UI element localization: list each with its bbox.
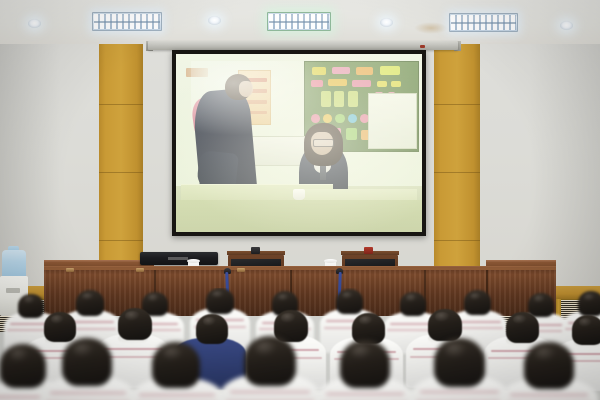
student-head — [524, 342, 574, 389]
student-head — [206, 288, 234, 314]
student-head — [244, 336, 296, 386]
student-head — [464, 290, 491, 315]
downlight-icon-1 — [28, 19, 41, 28]
student-head — [434, 338, 485, 387]
water-dispenser-bottle — [2, 250, 26, 278]
lecture-hall-photo — [0, 0, 600, 400]
podium-knob-3 — [237, 268, 245, 272]
student-head — [62, 338, 112, 386]
podium-knob-1 — [66, 268, 74, 272]
roller-screen-housing — [148, 41, 458, 50]
student-head — [428, 309, 462, 341]
shirt-piping — [326, 393, 404, 395]
student-head — [118, 308, 152, 340]
eyeglasses-icon — [313, 139, 335, 146]
student-head — [76, 290, 104, 316]
ceiling-stain — [414, 22, 448, 34]
projected-desk-cup — [293, 189, 305, 200]
student-head — [506, 312, 539, 343]
projected-seated-student-tie — [320, 164, 326, 180]
shirt-piping — [230, 391, 310, 393]
shirt-piping — [420, 391, 499, 393]
student-head — [18, 294, 44, 318]
projection-screen-surface — [176, 54, 422, 232]
student-head — [0, 344, 46, 388]
podium-knob-2 — [136, 268, 144, 272]
shirt-piping — [103, 348, 162, 350]
name-plate-left — [251, 247, 260, 254]
projected-desk-front — [176, 200, 422, 232]
student-head — [400, 292, 426, 316]
shirt-piping — [139, 394, 214, 396]
projected-white-cabinet — [368, 93, 417, 148]
audience-area — [0, 288, 600, 400]
downlight-icon-3 — [380, 18, 393, 27]
screen-indicator-icon — [420, 45, 425, 48]
student-head — [528, 293, 554, 317]
tan-column-left — [99, 44, 143, 296]
student-head — [340, 340, 390, 388]
fluorescent-panel-light-left — [92, 12, 162, 31]
fluorescent-panel-light-right — [449, 13, 518, 32]
student-head — [152, 342, 200, 388]
shirt-piping — [50, 392, 127, 394]
projected-wall-lettering — [186, 68, 208, 77]
student-head — [578, 291, 600, 316]
student-head — [336, 289, 363, 314]
downlight-icon-2 — [208, 16, 221, 25]
projected-standing-student-face — [239, 81, 254, 97]
av-console-label — [168, 257, 188, 260]
fluorescent-panel-light-center — [267, 12, 331, 31]
student-head — [572, 315, 600, 345]
downlight-icon-4 — [560, 21, 573, 30]
tan-column-right — [434, 44, 480, 296]
indicator-light-icon — [364, 247, 373, 254]
student-head — [44, 312, 76, 342]
student-head — [196, 314, 228, 344]
shirt-piping — [510, 394, 588, 396]
